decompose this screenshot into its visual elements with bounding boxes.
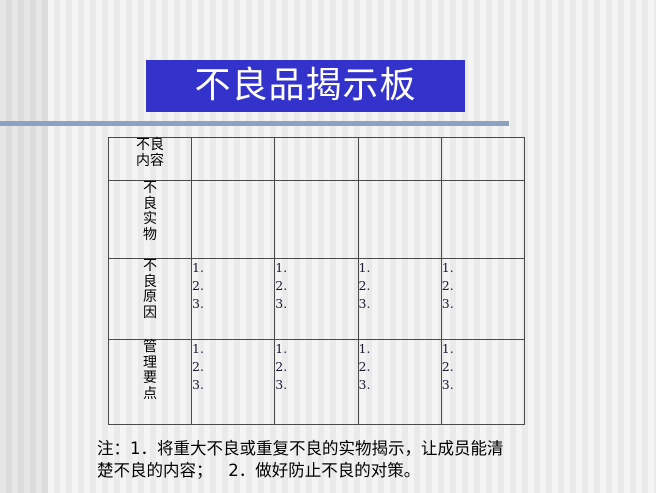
table-cell-content-4[interactable] xyxy=(441,138,524,181)
list-item: 2. xyxy=(359,358,441,376)
footer-note-line-1: 注：1．将重大不良或重复不良的实物揭示，让成员能清 xyxy=(97,438,602,460)
row-header-char: 良 xyxy=(109,197,191,213)
row-header-char: 管 xyxy=(109,340,191,356)
title-divider-rule xyxy=(0,121,509,126)
table-cell-cause-3[interactable]: 1. 2. 3. xyxy=(358,259,441,340)
table-cell-keypoint-4[interactable]: 1. 2. 3. xyxy=(441,340,524,425)
list-item: 3. xyxy=(442,376,524,394)
row-header-char: 实 xyxy=(109,212,191,228)
table-cell-content-2[interactable] xyxy=(275,138,358,181)
slide-title-banner: 不良品揭示板 xyxy=(146,60,465,112)
table-row: 不 良 实 物 xyxy=(109,181,525,259)
table-cell-keypoint-1[interactable]: 1. 2. 3. xyxy=(192,340,275,425)
list-item: 2. xyxy=(192,358,274,376)
row-header-sample: 不 良 实 物 xyxy=(109,181,192,259)
list-item: 2. xyxy=(275,277,357,295)
row-header-char: 内容 xyxy=(109,154,191,170)
list-item: 2. xyxy=(275,358,357,376)
table-cell-cause-4[interactable]: 1. 2. 3. xyxy=(441,259,524,340)
table-cell-keypoint-3[interactable]: 1. 2. 3. xyxy=(358,340,441,425)
list-item: 1. xyxy=(442,259,524,277)
table-cell-sample-2[interactable] xyxy=(275,181,358,259)
list-item: 2. xyxy=(192,277,274,295)
row-header-char: 良 xyxy=(109,275,191,291)
row-header-char: 不 xyxy=(109,259,191,275)
list-item: 2. xyxy=(359,277,441,295)
row-header-char: 物 xyxy=(109,228,191,244)
list-item: 1. xyxy=(359,340,441,358)
list-item: 1. xyxy=(192,340,274,358)
list-item: 3. xyxy=(359,376,441,394)
row-header-char: 不 xyxy=(109,181,191,197)
table-row: 不 良 原 因 1. 2. 3. 1. 2. 3. 1. 2. xyxy=(109,259,525,340)
table-cell-content-3[interactable] xyxy=(358,138,441,181)
list-item: 2. xyxy=(442,358,524,376)
footer-note-line-2: 楚不良的内容； 2．做好防止不良的对策。 xyxy=(97,460,602,482)
list-item: 1. xyxy=(192,259,274,277)
defect-board-table: 不良 内容 不 良 实 物 xyxy=(108,137,525,425)
row-header-char: 不良 xyxy=(109,138,191,154)
row-header-char: 要 xyxy=(109,371,191,387)
list-item: 1. xyxy=(359,259,441,277)
table-cell-keypoint-2[interactable]: 1. 2. 3. xyxy=(275,340,358,425)
table-cell-sample-3[interactable] xyxy=(358,181,441,259)
slide-canvas: 不良品揭示板 不良 内容 不 良 实 物 xyxy=(0,0,656,493)
list-item: 1. xyxy=(275,259,357,277)
list-item: 3. xyxy=(275,295,357,313)
table-body: 不良 内容 不 良 实 物 xyxy=(109,138,525,425)
table-row: 管 理 要 点 1. 2. 3. 1. 2. 3. 1. 2. xyxy=(109,340,525,425)
table-cell-sample-4[interactable] xyxy=(441,181,524,259)
table-cell-cause-2[interactable]: 1. 2. 3. xyxy=(275,259,358,340)
page-title: 不良品揭示板 xyxy=(194,68,416,104)
row-header-char: 原 xyxy=(109,290,191,306)
row-header-content: 不良 内容 xyxy=(109,138,192,181)
row-header-keypoint: 管 理 要 点 xyxy=(109,340,192,425)
list-item: 1. xyxy=(275,340,357,358)
list-item: 3. xyxy=(192,295,274,313)
row-header-char: 理 xyxy=(109,356,191,372)
table-row: 不良 内容 xyxy=(109,138,525,181)
footer-note: 注：1．将重大不良或重复不良的实物揭示，让成员能清 楚不良的内容； 2．做好防止… xyxy=(97,438,602,482)
table-cell-sample-1[interactable] xyxy=(192,181,275,259)
list-item: 3. xyxy=(275,376,357,394)
list-item: 3. xyxy=(359,295,441,313)
row-header-char: 因 xyxy=(109,306,191,322)
background-left-stripe-band xyxy=(0,0,48,493)
row-header-char: 点 xyxy=(109,387,191,403)
row-header-cause: 不 良 原 因 xyxy=(109,259,192,340)
list-item: 2. xyxy=(442,277,524,295)
list-item: 3. xyxy=(192,376,274,394)
list-item: 1. xyxy=(442,340,524,358)
table-cell-cause-1[interactable]: 1. 2. 3. xyxy=(192,259,275,340)
table-cell-content-1[interactable] xyxy=(192,138,275,181)
list-item: 3. xyxy=(442,295,524,313)
